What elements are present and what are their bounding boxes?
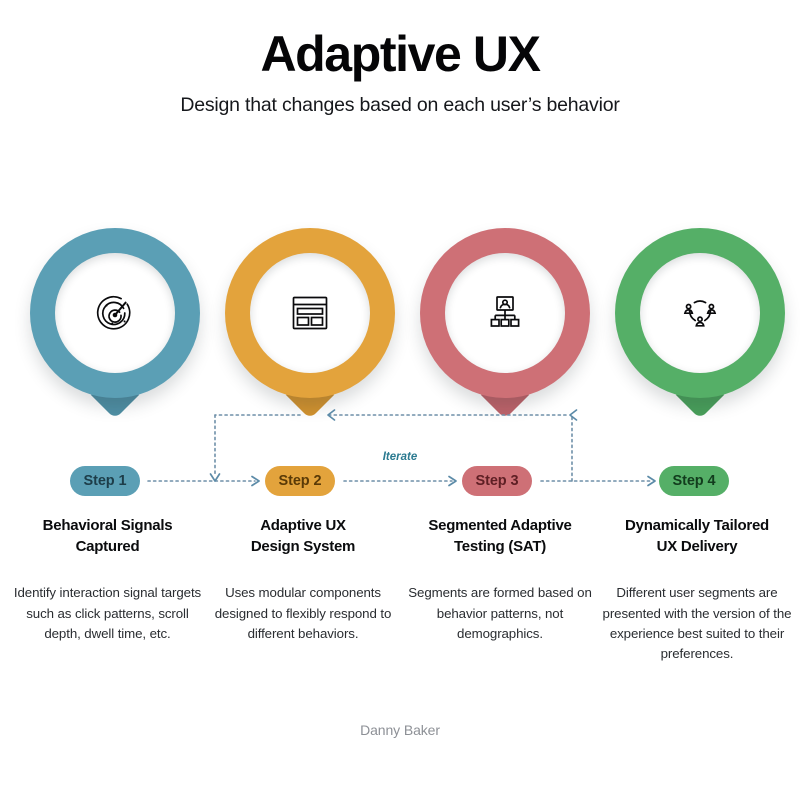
step-heading-1-line1: Behavioral Signals bbox=[43, 517, 173, 534]
step-ring-4 bbox=[615, 228, 785, 398]
step-heading-3-line2: Testing (SAT) bbox=[454, 538, 546, 555]
author-credit: Danny Baker bbox=[0, 722, 800, 738]
step-badge-4[interactable]: Step 4 bbox=[659, 466, 729, 496]
step-icon-well-3 bbox=[445, 253, 565, 373]
step-heading-4-line1: Dynamically Tailored bbox=[625, 517, 769, 534]
header: Adaptive UX Design that changes based on… bbox=[0, 28, 800, 117]
segmentation-hierarchy-icon bbox=[484, 292, 526, 334]
step-node-2[interactable] bbox=[215, 228, 405, 418]
step-node-4[interactable] bbox=[605, 228, 795, 418]
step-heading-4-line2: UX Delivery bbox=[657, 538, 738, 555]
step-badge-2[interactable]: Step 2 bbox=[265, 466, 335, 496]
step-body-1: Identify interaction signal targets such… bbox=[10, 583, 205, 644]
page-title: Adaptive UX bbox=[0, 28, 800, 81]
step-node-row bbox=[0, 228, 800, 418]
step-heading-4: Dynamically Tailored UX Delivery bbox=[599, 516, 795, 557]
step-heading-1: Behavioral Signals Captured bbox=[10, 516, 205, 557]
step-body-4: Different user segments are presented wi… bbox=[599, 583, 795, 664]
step-column-1: Behavioral Signals Captured Identify int… bbox=[10, 516, 205, 644]
step-badge-1[interactable]: Step 1 bbox=[70, 466, 140, 496]
iterate-label: Iterate bbox=[383, 451, 418, 463]
step-column-4: Dynamically Tailored UX Delivery Differe… bbox=[599, 516, 795, 664]
step-body-2: Uses modular components designed to flex… bbox=[208, 583, 398, 644]
radar-icon bbox=[93, 291, 137, 335]
step-icon-well-2 bbox=[250, 253, 370, 373]
step-ring-2 bbox=[225, 228, 395, 398]
step-heading-2-line1: Adaptive UX bbox=[260, 517, 346, 534]
step-badge-3[interactable]: Step 3 bbox=[462, 466, 532, 496]
step-node-3[interactable] bbox=[410, 228, 600, 418]
user-network-icon bbox=[678, 291, 722, 335]
step-icon-well-1 bbox=[55, 253, 175, 373]
step-ring-1 bbox=[30, 228, 200, 398]
wireframe-layout-icon bbox=[289, 292, 331, 334]
page-subtitle: Design that changes based on each user’s… bbox=[0, 94, 800, 117]
infographic-canvas: Adaptive UX Design that changes based on… bbox=[0, 0, 800, 800]
step-badge-row: Step 1 Step 2 Step 3 Step 4 bbox=[0, 466, 800, 498]
step-heading-2: Adaptive UX Design System bbox=[208, 516, 398, 557]
step-node-1[interactable] bbox=[20, 228, 210, 418]
step-body-3: Segments are formed based on behavior pa… bbox=[402, 583, 598, 644]
step-heading-3: Segmented Adaptive Testing (SAT) bbox=[402, 516, 598, 557]
step-ring-3 bbox=[420, 228, 590, 398]
step-column-2: Adaptive UX Design System Uses modular c… bbox=[208, 516, 398, 644]
arrowhead-iterate-left-right bbox=[570, 410, 577, 420]
step-icon-well-4 bbox=[640, 253, 760, 373]
step-heading-2-line2: Design System bbox=[251, 538, 355, 555]
step-heading-1-line2: Captured bbox=[76, 538, 140, 555]
step-column-3: Segmented Adaptive Testing (SAT) Segment… bbox=[402, 516, 598, 644]
step-heading-3-line1: Segmented Adaptive bbox=[428, 517, 571, 534]
